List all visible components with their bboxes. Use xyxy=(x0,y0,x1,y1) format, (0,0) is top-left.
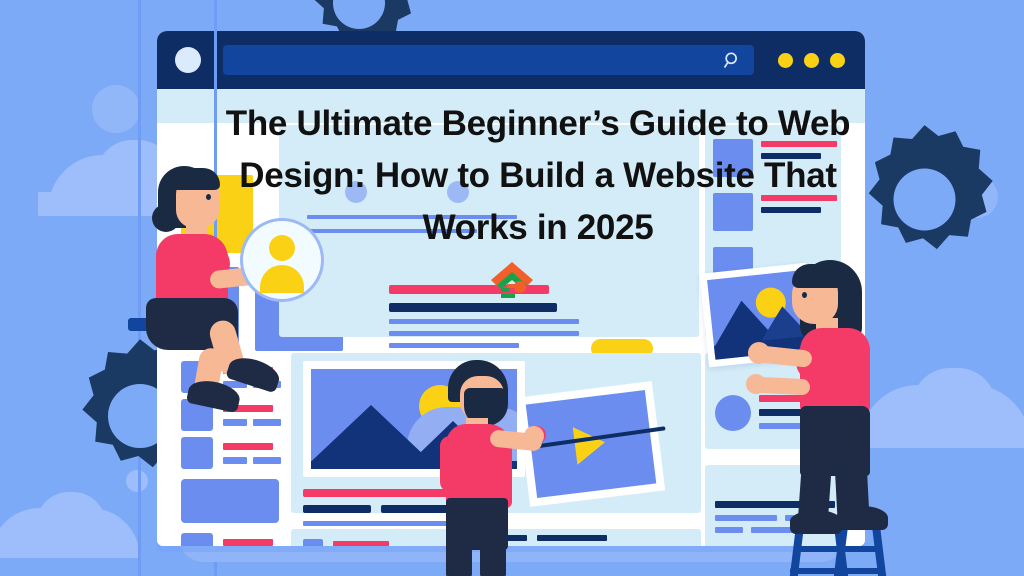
gear-right-icon xyxy=(847,122,1002,277)
window-dot-2[interactable] xyxy=(804,53,819,68)
ladder-woman-hand-upper xyxy=(748,342,770,364)
right-line-pink-2 xyxy=(761,195,837,201)
sidebar-item-title-3 xyxy=(223,443,273,450)
ladder-woman-fringe xyxy=(792,264,852,288)
man-hand xyxy=(524,426,544,446)
sidebar-item-sub-2b xyxy=(253,419,281,426)
window-control-dots[interactable] xyxy=(778,53,845,68)
search-icon[interactable] xyxy=(722,50,742,70)
address-bar[interactable] xyxy=(223,45,754,75)
man-eye xyxy=(490,388,495,394)
woman-on-ladder xyxy=(770,256,900,536)
swing-woman-shoe-1 xyxy=(225,353,282,394)
window-dot-3[interactable] xyxy=(830,53,845,68)
avatar-head-icon xyxy=(269,235,295,261)
window-dot-1[interactable] xyxy=(778,53,793,68)
hero-avatar-dot-1 xyxy=(345,181,367,203)
right-card-a xyxy=(713,139,753,177)
sidebar-feature-block xyxy=(181,479,279,523)
background-dot-left xyxy=(92,85,140,133)
sidebar-item-sub-3b xyxy=(253,457,281,464)
right-bot-body-3 xyxy=(715,527,743,533)
sidebar-item-icon-3[interactable] xyxy=(181,437,213,469)
house-logo-watermark-icon xyxy=(487,256,537,306)
main-subline-a xyxy=(303,505,371,513)
right-line-pink-1 xyxy=(761,141,837,147)
hero-band xyxy=(157,89,865,123)
man-back-arm xyxy=(440,436,460,492)
avatar-body-icon xyxy=(260,265,304,293)
right-line-navy-1 xyxy=(761,153,821,159)
hero-body-line-1 xyxy=(389,319,579,324)
sidebar-item-sub-3a xyxy=(223,457,247,464)
hero-text-line-2 xyxy=(307,229,477,233)
right-card-b xyxy=(713,193,753,231)
ladder-woman-shoe-2 xyxy=(836,506,888,530)
sidebar-item-sub-2a xyxy=(223,419,247,426)
man-leg-left xyxy=(446,536,472,576)
browser-titlebar xyxy=(157,31,865,89)
bottom-thumb xyxy=(303,539,323,546)
swing-woman-eye xyxy=(206,194,211,200)
right-line-navy-2 xyxy=(761,207,821,213)
ladder-woman-hand-lower xyxy=(746,374,766,394)
right-bot-body-1 xyxy=(715,515,777,521)
hero-body-line-2 xyxy=(389,331,579,336)
ladder-woman-shoe-1 xyxy=(790,510,842,534)
bottom-line-pink xyxy=(333,541,389,546)
ladder-step-2 xyxy=(790,568,884,574)
right-avatar-circle xyxy=(715,395,751,431)
ladder-step-1 xyxy=(794,546,882,552)
ladder-woman-eye xyxy=(802,292,807,298)
hero-avatar-dot-2 xyxy=(447,181,469,203)
swing-woman-fringe xyxy=(168,168,220,190)
profile-circle-icon xyxy=(175,47,201,73)
man-leg-right xyxy=(480,536,506,576)
user-avatar-badge xyxy=(240,218,324,302)
man-with-pointer xyxy=(424,362,604,576)
hero-body-line-3 xyxy=(389,343,519,348)
sidebar-item-title-4 xyxy=(223,539,273,546)
hero-text-line-1 xyxy=(307,215,517,219)
sidebar-item-icon-4[interactable] xyxy=(181,533,213,546)
poster-canvas: The Ultimate Beginner’s Guide to Web Des… xyxy=(0,0,1024,576)
